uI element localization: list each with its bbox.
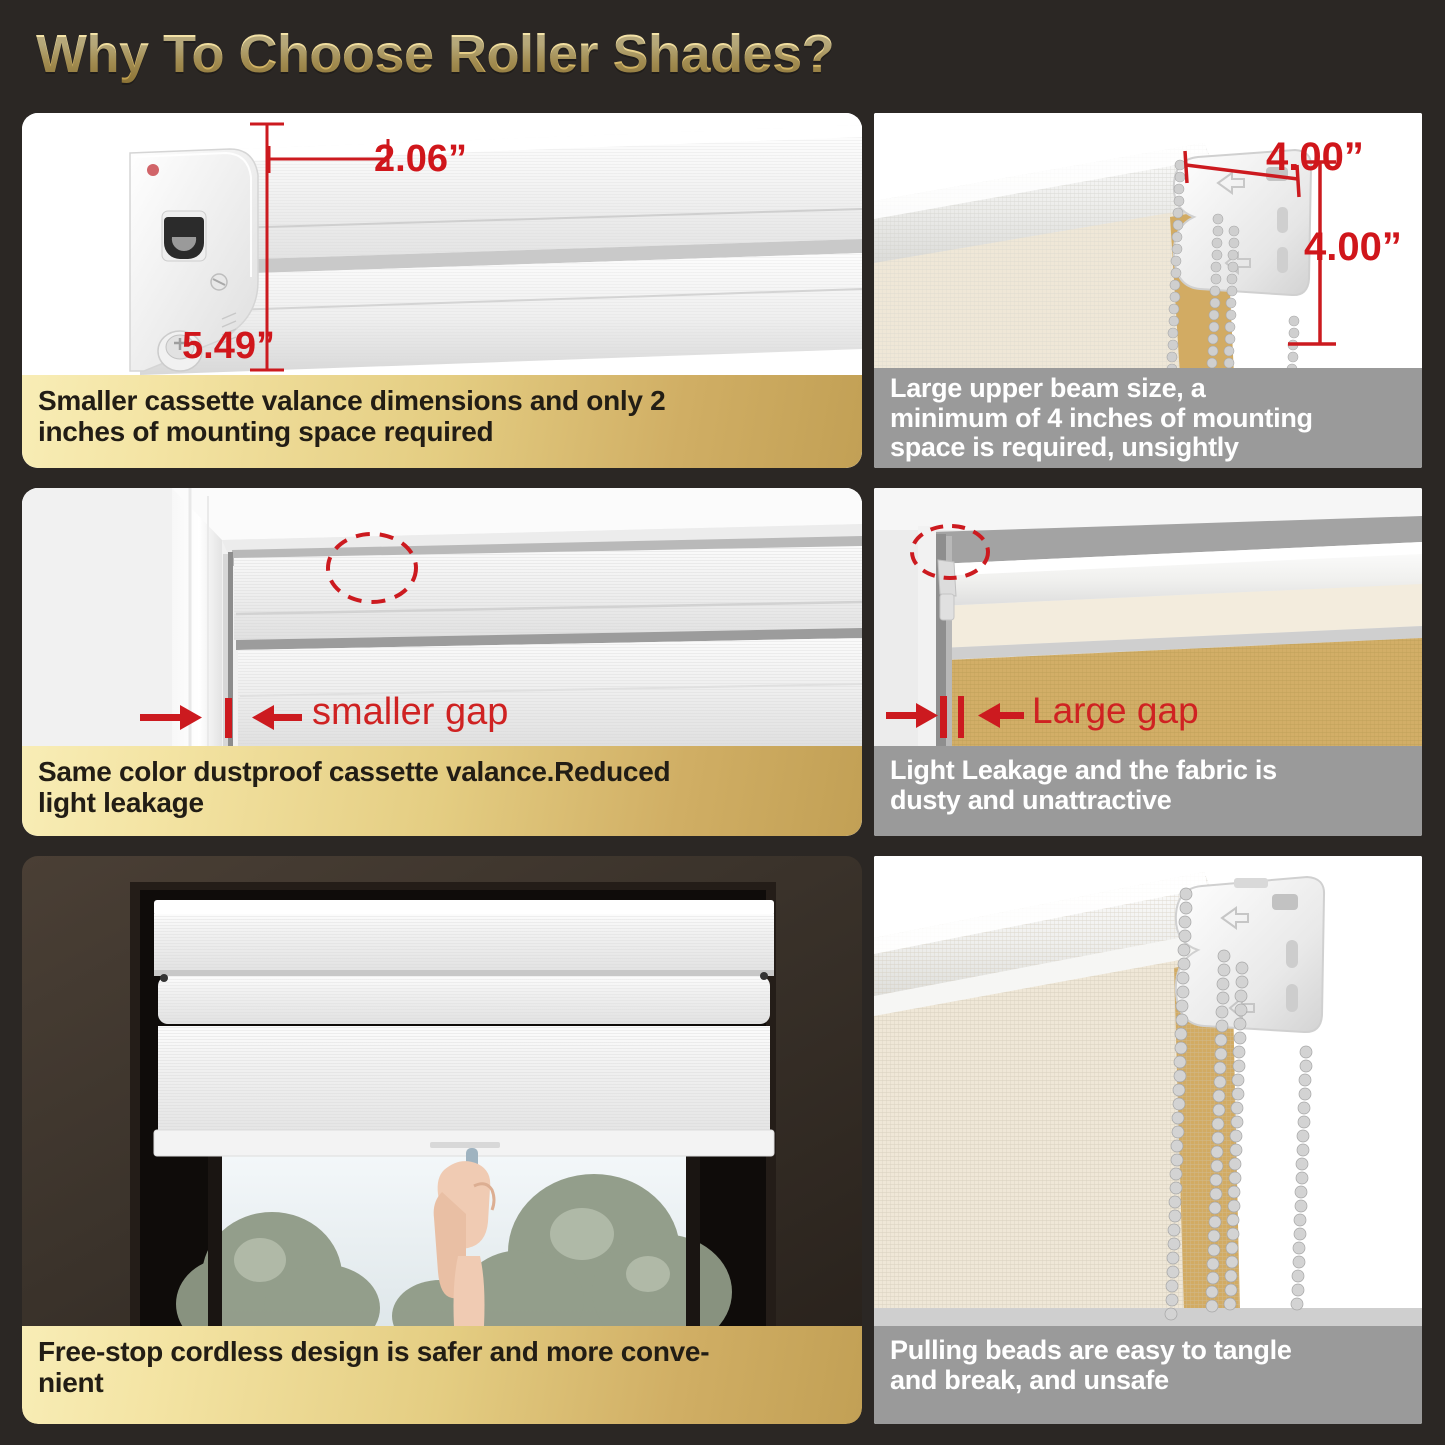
dimension-label-width: 2.06” xyxy=(374,138,467,181)
panel-light-leakage: Large gap Light Leakage and the fabric i… xyxy=(874,488,1422,836)
caption-dustproof-valance: Same color dustproof cassette valance.Re… xyxy=(22,746,862,836)
gap-label-smaller: smaller gap xyxy=(312,691,508,734)
dimension-label-height: 4.00” xyxy=(1304,225,1402,270)
caption-line: inches of mounting space required xyxy=(38,416,846,447)
caption-large-upper-beam: Large upper beam size, a minimum of 4 in… xyxy=(874,368,1422,468)
panel-dustproof-cassette-valance: smaller gap Same color dustproof cassett… xyxy=(22,488,862,836)
beaded-roller-illustration xyxy=(874,856,1422,1326)
caption-line: and break, and unsafe xyxy=(890,1366,1406,1396)
caption-line: dusty and unattractive xyxy=(890,786,1406,816)
pulling-beads-photo xyxy=(874,856,1422,1326)
caption-line: light leakage xyxy=(38,787,846,818)
dimension-label-width: 4.00” xyxy=(1266,135,1364,180)
caption-line: Light Leakage and the fabric is xyxy=(890,756,1406,786)
light-leakage-photo: Large gap xyxy=(874,488,1422,746)
free-stop-cordless-photo xyxy=(22,856,862,1326)
dustproof-valance-photo: smaller gap xyxy=(22,488,862,746)
caption-line: Free-stop cordless design is safer and m… xyxy=(38,1336,846,1367)
gap-marker xyxy=(225,698,232,738)
caption-free-stop-cordless: Free-stop cordless design is safer and m… xyxy=(22,1326,862,1424)
caption-pulling-beads: Pulling beads are easy to tangle and bre… xyxy=(874,1326,1422,1424)
room-window-illustration xyxy=(22,856,862,1326)
gap-label-large: Large gap xyxy=(1032,690,1199,732)
caption-light-leakage: Light Leakage and the fabric is dusty an… xyxy=(874,746,1422,836)
panel-pulling-beads: Pulling beads are easy to tangle and bre… xyxy=(874,856,1422,1424)
caption-line: space is required, unsightly xyxy=(890,433,1406,463)
caption-cassette-dimensions: Smaller cassette valance dimensions and … xyxy=(22,375,862,468)
dimension-label-height: 5.49” xyxy=(182,325,275,368)
panel-large-upper-beam: 4.00” 4.00” Large upper beam size, a min… xyxy=(874,113,1422,468)
caption-line: Pulling beads are easy to tangle xyxy=(890,1336,1406,1366)
caption-line: Same color dustproof cassette valance.Re… xyxy=(38,756,846,787)
header-bar: Why To Choose Roller Shades? xyxy=(0,0,1445,108)
gap-marker-2 xyxy=(958,696,964,738)
cassette-dimensions-photo: 5.49” 2.06” xyxy=(22,113,862,375)
gap-marker-1 xyxy=(940,696,947,738)
large-upper-beam-photo: 4.00” 4.00” xyxy=(874,113,1422,375)
page-title: Why To Choose Roller Shades? xyxy=(36,23,834,85)
panel-free-stop-cordless: Free-stop cordless design is safer and m… xyxy=(22,856,862,1424)
caption-line: nient xyxy=(38,1367,846,1398)
caption-line: minimum of 4 inches of mounting xyxy=(890,404,1406,434)
panel-cassette-dimensions: 5.49” 2.06” Smaller cassette valance dim… xyxy=(22,113,862,468)
caption-line: Smaller cassette valance dimensions and … xyxy=(38,385,846,416)
caption-line: Large upper beam size, a xyxy=(890,374,1406,404)
